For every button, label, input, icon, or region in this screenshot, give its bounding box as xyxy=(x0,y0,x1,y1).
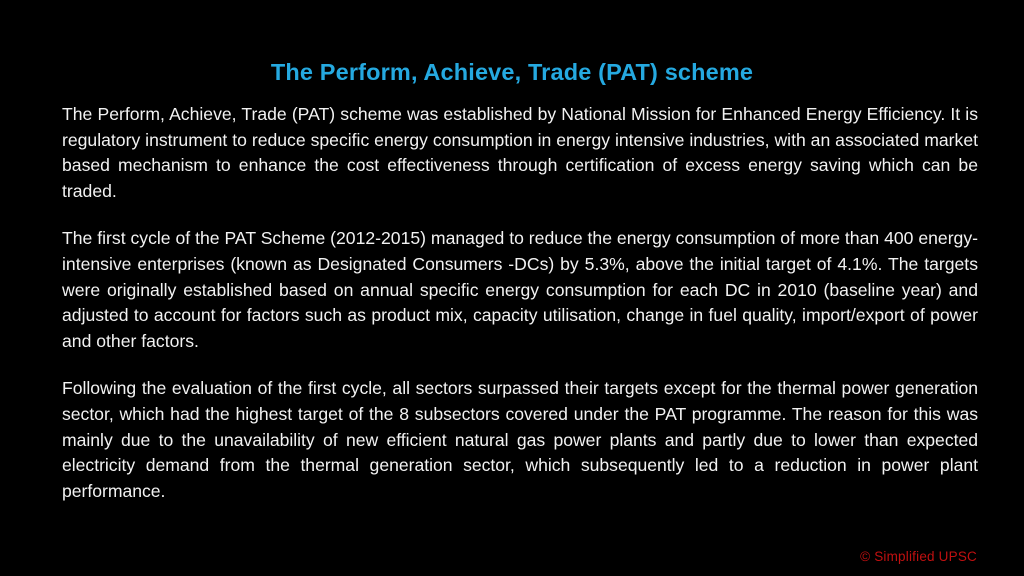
page-title: The Perform, Achieve, Trade (PAT) scheme xyxy=(0,60,1024,86)
paragraph-2: The first cycle of the PAT Scheme (2012-… xyxy=(62,226,978,354)
paragraph-1: The Perform, Achieve, Trade (PAT) scheme… xyxy=(62,102,978,204)
presentation-slide: The Perform, Achieve, Trade (PAT) scheme… xyxy=(0,0,1024,576)
slide-body: The Perform, Achieve, Trade (PAT) scheme… xyxy=(62,102,978,504)
copyright-credit: © Simplified UPSC xyxy=(0,549,977,564)
paragraph-3: Following the evaluation of the first cy… xyxy=(62,376,978,504)
